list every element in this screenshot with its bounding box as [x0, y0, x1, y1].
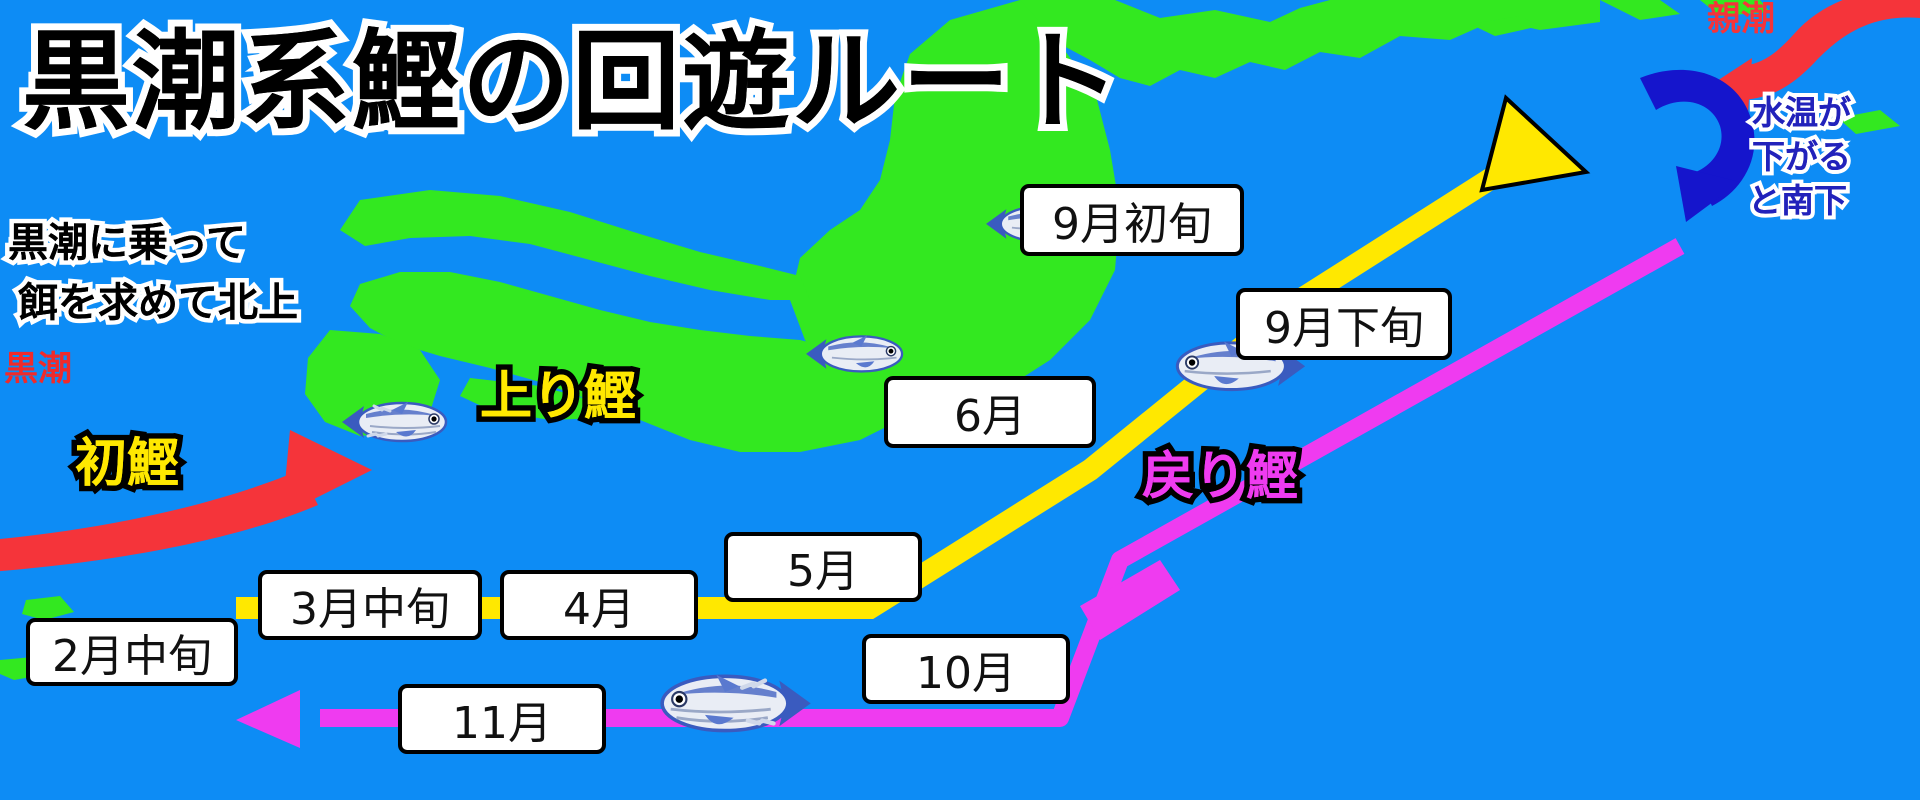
kuroshio-label: 黒潮 — [4, 352, 72, 388]
cold-water-note-line1: 水温が — [1752, 96, 1851, 131]
oyashio-label: 親潮 — [1707, 2, 1775, 38]
label-returning-katsuo: 戻り鰹 — [1142, 450, 1298, 505]
skipjack-tuna-icon — [640, 652, 830, 752]
page-title: 黒潮系鰹の回遊ルート — [22, 26, 1122, 139]
skipjack-tuna-icon — [330, 386, 460, 456]
month-chip-4[interactable]: 4月 — [500, 570, 698, 640]
month-chip-10[interactable]: 10月 — [862, 634, 1070, 704]
lead-text-line1: 黒潮に乗って — [8, 222, 246, 264]
cold-water-note-line2: 下がる — [1752, 140, 1851, 175]
label-northbound-katsuo: 上り鰹 — [480, 370, 636, 425]
month-chip-2-mid[interactable]: 2月中旬 — [26, 618, 238, 686]
cold-water-note-line3: と南下 — [1748, 184, 1847, 219]
month-chip-9-early[interactable]: 9月初旬 — [1020, 184, 1244, 256]
month-chip-9-late[interactable]: 9月下旬 — [1236, 288, 1452, 360]
lead-text-line2: 餌を求めて北上 — [18, 282, 298, 324]
infographic-canvas: 黒潮系鰹の回遊ルート 黒潮系鰹の回遊ルート 黒潮に乗って 黒潮に乗って 餌を求め… — [0, 0, 1920, 800]
month-chip-3-mid[interactable]: 3月中旬 — [258, 570, 482, 640]
label-first-katsuo: 初鰹 — [75, 437, 179, 492]
month-chip-5[interactable]: 5月 — [724, 532, 922, 602]
month-chip-6[interactable]: 6月 — [884, 376, 1096, 448]
month-chip-11[interactable]: 11月 — [398, 684, 606, 754]
